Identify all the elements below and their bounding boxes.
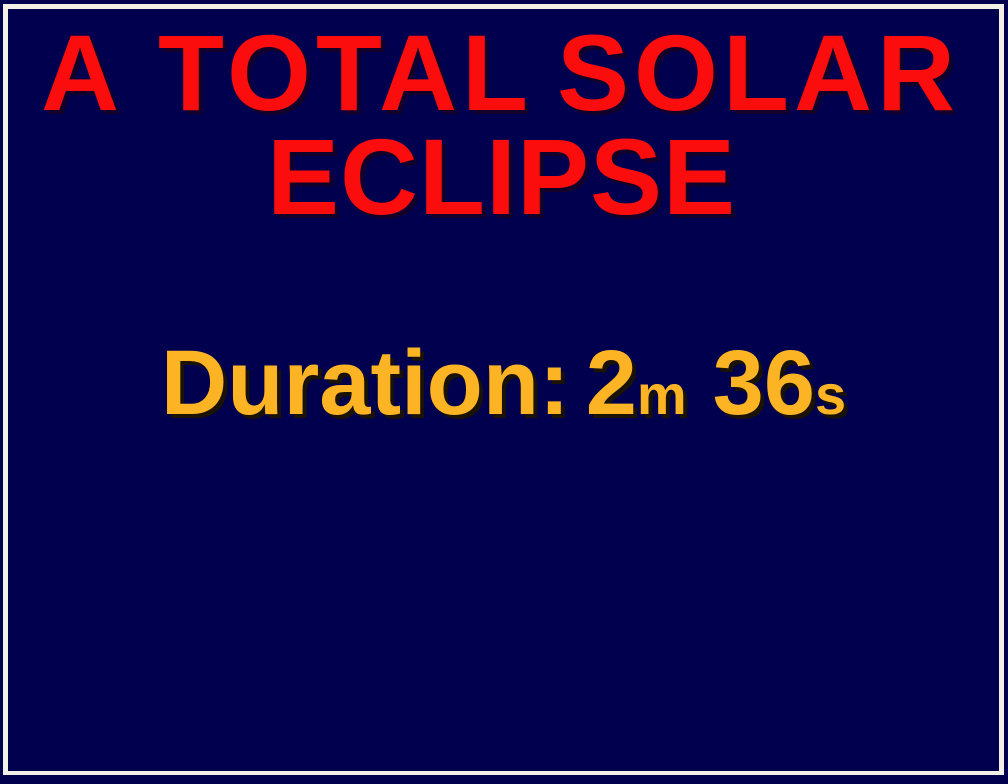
duration-seconds-value: 36 bbox=[713, 332, 815, 434]
duration-minutes-unit: m bbox=[637, 363, 687, 426]
eclipse-slide: ATOTALSOLAR ECLIPSE Duration:2m36s bbox=[0, 0, 1008, 784]
title-line-1: ATOTALSOLAR bbox=[8, 21, 999, 125]
title-word-total: TOTAL bbox=[158, 12, 533, 133]
title-word-a: A bbox=[41, 12, 124, 133]
duration-label: Duration: bbox=[161, 332, 570, 434]
slide-border-frame: ATOTALSOLAR ECLIPSE Duration:2m36s bbox=[3, 4, 1004, 775]
title-block: ATOTALSOLAR ECLIPSE bbox=[8, 21, 999, 229]
duration-block: Duration:2m36s bbox=[8, 331, 999, 436]
duration-seconds-unit: s bbox=[815, 363, 846, 426]
title-line-2: ECLIPSE bbox=[8, 125, 999, 229]
slide-content-area: ATOTALSOLAR ECLIPSE Duration:2m36s bbox=[8, 9, 999, 771]
title-word-solar: SOLAR bbox=[557, 12, 960, 133]
duration-minutes-value: 2 bbox=[586, 332, 637, 434]
